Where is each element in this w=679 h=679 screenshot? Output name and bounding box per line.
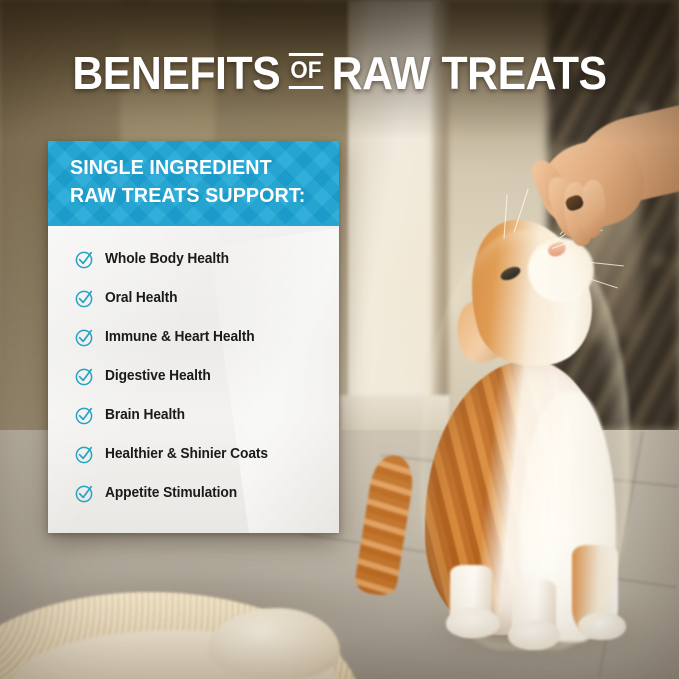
card-header-line-1: SINGLE INGREDIENT	[70, 154, 313, 182]
check-circle-icon	[75, 406, 94, 425]
check-circle-icon	[75, 289, 94, 308]
benefit-label: Whole Body Health	[105, 251, 229, 268]
benefit-item: Digestive Health	[48, 357, 339, 396]
benefits-card: SINGLE INGREDIENT RAW TREATS SUPPORT: Wh…	[48, 141, 339, 533]
check-circle-icon	[75, 367, 94, 386]
benefit-item: Immune & Heart Health	[48, 318, 339, 357]
check-circle-icon	[75, 484, 94, 503]
benefit-label: Appetite Stimulation	[105, 485, 237, 502]
benefit-item: Appetite Stimulation	[48, 474, 339, 513]
check-circle-icon	[75, 328, 94, 347]
benefits-list: Whole Body HealthOral HealthImmune & Hea…	[48, 240, 339, 513]
title-part-2: RAW TREATS	[332, 48, 607, 98]
benefit-label: Healthier & Shinier Coats	[105, 446, 268, 463]
card-body: Whole Body HealthOral HealthImmune & Hea…	[48, 226, 339, 533]
benefit-item: Healthier & Shinier Coats	[48, 435, 339, 474]
benefit-label: Immune & Heart Health	[105, 329, 255, 346]
benefit-item: Oral Health	[48, 279, 339, 318]
card-header-line-2: RAW TREATS SUPPORT:	[70, 182, 313, 210]
benefit-label: Brain Health	[105, 407, 185, 424]
check-circle-icon	[75, 250, 94, 269]
benefit-label: Oral Health	[105, 290, 177, 307]
title-of-badge: OF	[289, 53, 324, 89]
benefit-item: Whole Body Health	[48, 240, 339, 279]
page-title: BENEFITSOFRAW TREATS	[24, 44, 655, 98]
card-header: SINGLE INGREDIENT RAW TREATS SUPPORT:	[48, 141, 339, 226]
benefit-label: Digestive Health	[105, 368, 211, 385]
promotional-graphic: BENEFITSOFRAW TREATS SINGLE INGREDIENT R…	[0, 0, 679, 679]
benefit-item: Brain Health	[48, 396, 339, 435]
title-part-1: BENEFITS	[72, 48, 280, 98]
check-circle-icon	[75, 445, 94, 464]
